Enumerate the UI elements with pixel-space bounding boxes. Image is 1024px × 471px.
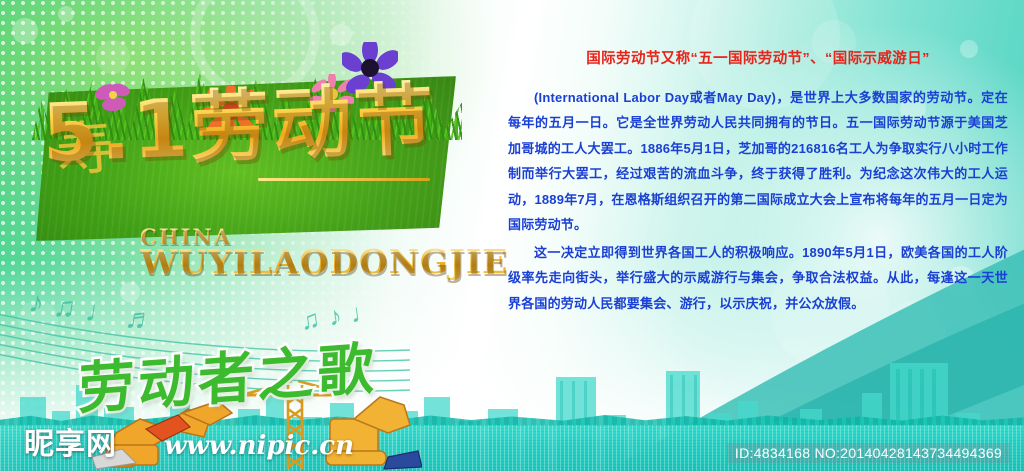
subtitle-pinyin: WUYILAODONGJIE <box>140 242 508 281</box>
watermark-brand: 昵享网 <box>24 419 117 463</box>
main-title-text: 5.1劳动节 <box>41 78 464 174</box>
article-panel: 国际劳动节又称“五一国际劳动节”、“国际示威游日” (International… <box>508 50 1008 318</box>
title-artwork: 寿 5.1劳动节 CHINA WUYILAODONGJIE <box>8 28 478 268</box>
article-paragraph-2: 这一决定立即得到世界各国工人的积极响应。1890年5月1日，欧美各国的工人阶级率… <box>508 240 1008 317</box>
gold-divider-line <box>258 178 430 181</box>
article-headline: 国际劳动节又称“五一国际劳动节”、“国际示威游日” <box>508 50 1008 69</box>
watermark-id: ID:4834168 NO:20140428143734494369 <box>727 443 1010 463</box>
labor-day-poster: ♪♫♩♬ ♫♪♩ <box>0 0 1024 471</box>
watermark-url: www.nipic.cn <box>164 431 354 461</box>
article-paragraph-1: (International Labor Day或者May Day)，是世界上大… <box>508 85 1008 238</box>
